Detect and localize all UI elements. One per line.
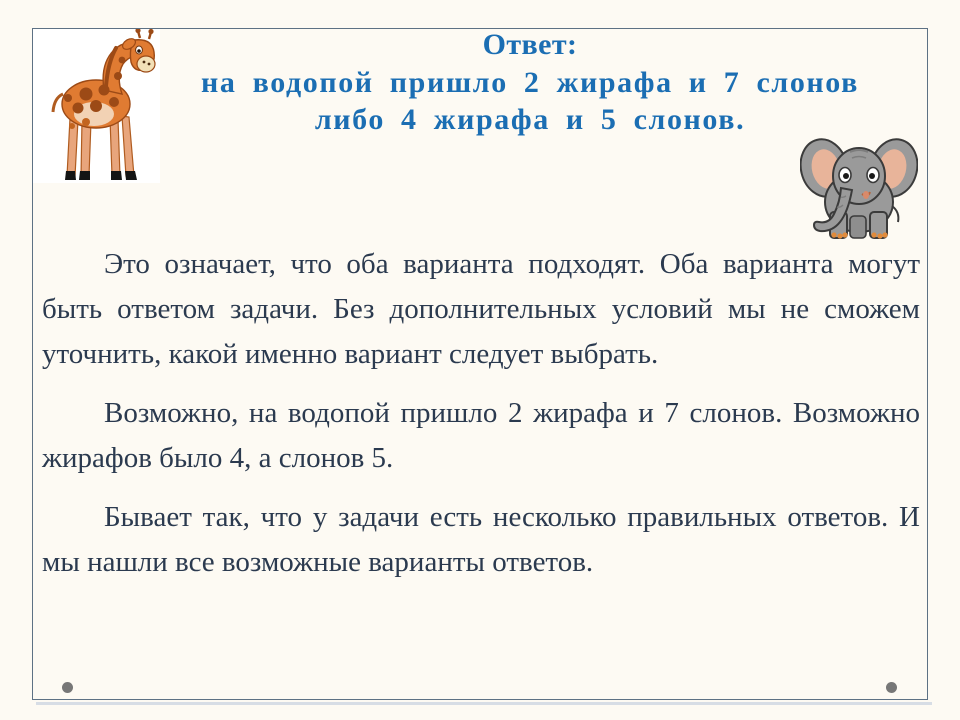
slide-canvas: Ответ: на водопой пришло 2 жирафа и 7 сл… [0,0,960,720]
bullet-dot-right [886,682,897,693]
paragraph-2: Возможно, на водопой пришло 2 жирафа и 7… [42,391,920,481]
heading-line-1: Ответ: [120,30,940,60]
paragraph-3: Бывает так, что у задачи есть несколько … [42,495,920,585]
heading-line-2: на водопой пришло 2 жирафа и 7 слонов [120,68,940,98]
paragraph-1: Это означает, что оба варианта подходят.… [42,242,920,377]
body-copy: Это означает, что оба варианта подходят.… [42,242,920,585]
bullet-dot-left [62,682,73,693]
frame-shadow [36,702,932,705]
elephant-icon [800,128,918,246]
answer-heading: Ответ: на водопой пришло 2 жирафа и 7 сл… [120,30,940,135]
